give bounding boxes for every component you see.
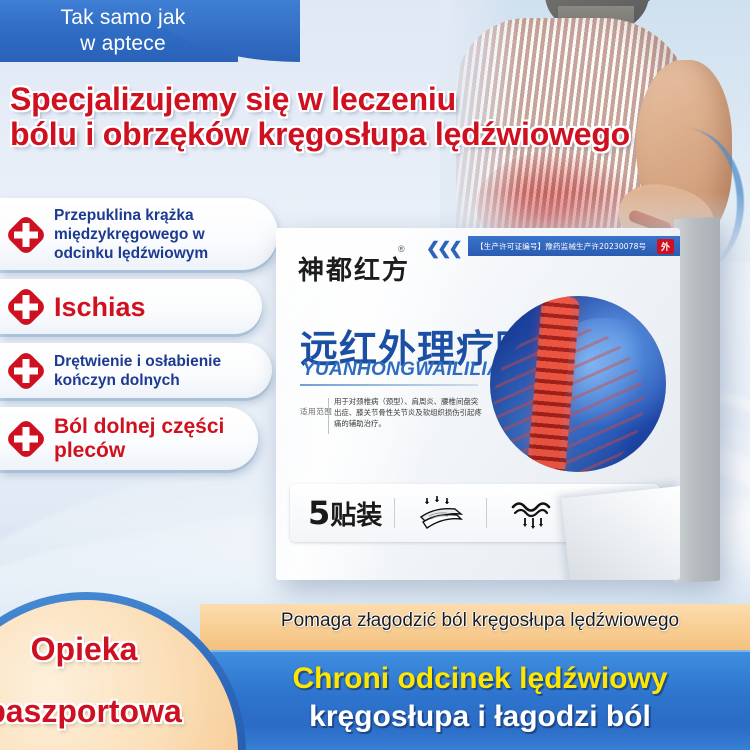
external-use-badge: 外 xyxy=(657,239,674,254)
page-title: Specjalizujemy się w leczeniu bólu i obr… xyxy=(10,82,750,152)
spine-illustration xyxy=(490,296,666,472)
scope-text: 用于对颈椎病（颈型）、肩周炎、腰椎间盘突出症、膝关节骨性关节炎及软组织损伤引起疼… xyxy=(334,396,484,429)
claim-line1: Chroni odcinek lędźwiowy xyxy=(210,662,750,696)
license-bar: 【生产许可证编号】豫药监械生产许20230078号 外 xyxy=(468,236,680,256)
pharmacy-banner-line2: w aptece xyxy=(8,31,238,57)
medical-cross-icon xyxy=(6,419,46,459)
chevron-left-icon: ❮❮❮ xyxy=(426,239,460,259)
product-package: 神都红方 ® ❮❮❮ 【生产许可证编号】豫药监械生产许20230078号 外 远… xyxy=(276,228,720,580)
product-box-side xyxy=(674,217,720,583)
pharmacy-banner-text: Tak samo jak w aptece xyxy=(8,5,238,57)
list-item-label: Ból dolnej części pleców xyxy=(54,415,244,463)
headline-line1: Specjalizujemy się w leczeniu xyxy=(10,81,456,117)
medical-cross-icon xyxy=(6,351,46,391)
product-box-corner-curl xyxy=(562,486,680,580)
list-item-label: Drętwienie i osłabienie kończyn dolnych xyxy=(54,352,258,390)
scope-divider xyxy=(328,398,329,434)
medical-cross-icon xyxy=(6,215,46,255)
license-text: 【生产许可证编号】豫药监械生产许20230078号 xyxy=(476,241,646,252)
medical-cross-icon xyxy=(6,287,46,327)
list-item-disc-herniation[interactable]: Przepuklina krążka międzykręgowego w odc… xyxy=(0,198,278,270)
passport-care-label: Opieka paszportowa xyxy=(0,618,234,742)
title-divider xyxy=(300,384,478,386)
benefit-text: Pomaga złagodzić ból kręgosłupa lędźwiow… xyxy=(210,610,750,632)
symptom-list: Przepuklina krążka międzykręgowego w odc… xyxy=(0,198,300,479)
patch-count-number: 5 xyxy=(308,494,330,532)
patch-count: 5贴装 xyxy=(290,494,394,532)
patch-count-suffix: 贴装 xyxy=(330,501,382,531)
registered-trademark-icon: ® xyxy=(398,244,405,254)
list-item-lower-back-pain[interactable]: Ból dolnej części pleców xyxy=(0,407,258,470)
claim-line2: kręgosłupa i łagodzi ból xyxy=(210,700,750,734)
list-item-sciatica[interactable]: Ischias xyxy=(0,279,262,334)
passport-care-line2: paszportowa xyxy=(0,680,234,742)
product-brand: 神都红方 xyxy=(298,250,410,287)
product-box-front: 神都红方 ® ❮❮❮ 【生产许可证编号】豫药监械生产许20230078号 外 远… xyxy=(276,228,680,580)
list-item-label: Ischias xyxy=(54,292,146,322)
advertisement-banner: Tak samo jak w aptece Specjalizujemy się… xyxy=(0,0,750,750)
passport-care-line1: Opieka xyxy=(31,631,138,667)
pharmacy-banner-line1: Tak samo jak xyxy=(61,6,186,29)
patch-breathable-icon xyxy=(395,495,486,531)
list-item-label: Przepuklina krążka międzykręgowego w odc… xyxy=(54,206,264,263)
headline-line2: bólu i obrzęków kręgosłupa lędźwiowego xyxy=(10,117,750,152)
list-item-numbness[interactable]: Drętwienie i osłabienie kończyn dolnych xyxy=(0,343,272,398)
